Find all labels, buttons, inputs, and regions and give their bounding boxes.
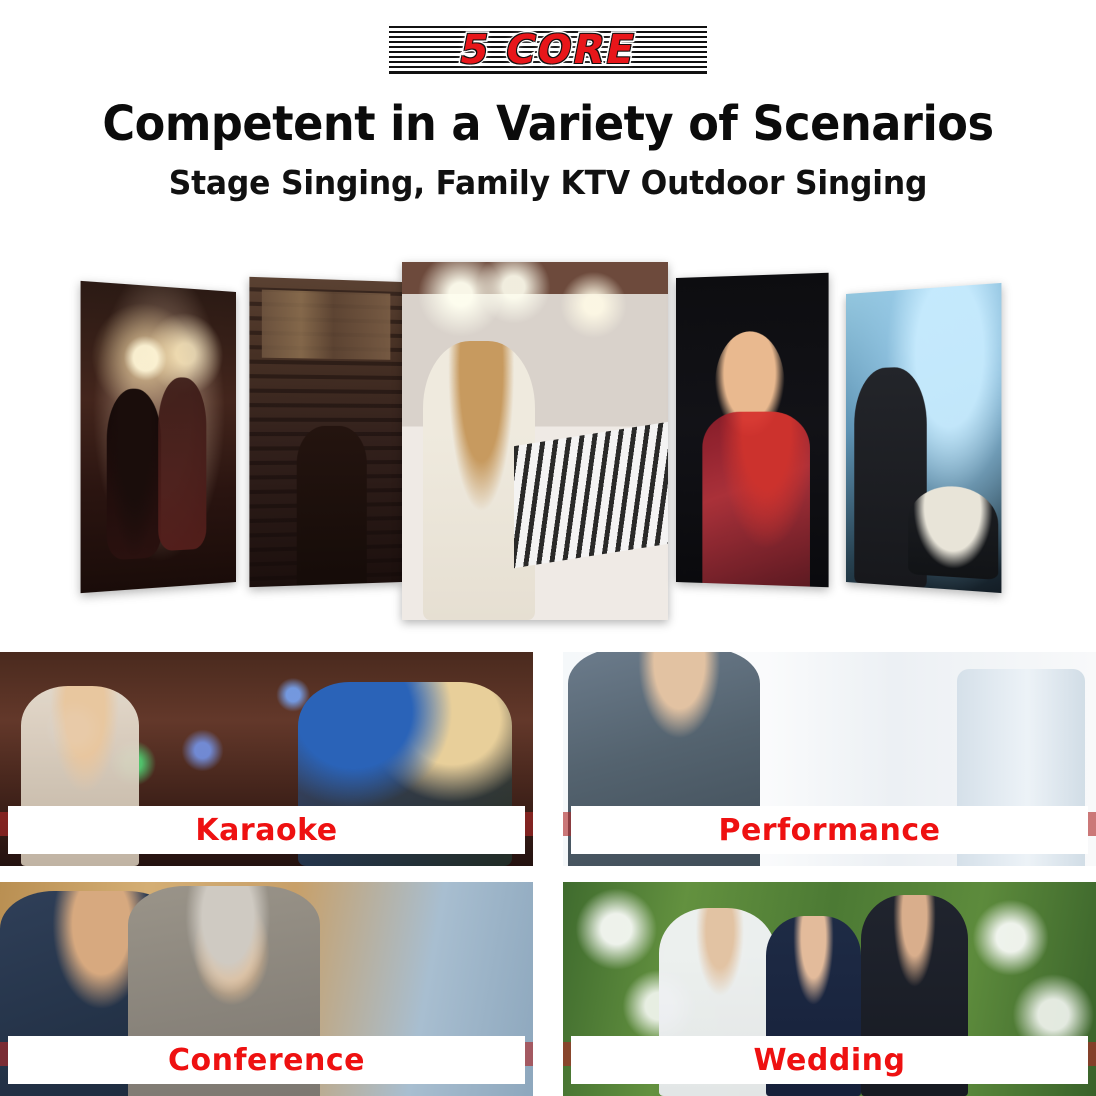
scenario-card-performance: Performance	[563, 652, 1096, 866]
scenario-label-conference: Conference	[168, 1043, 365, 1078]
scenario-grid: Karaoke Performance Conference Wedding	[0, 652, 1096, 1096]
brand-logo-text: 5 CORE	[385, 27, 712, 73]
product-infographic-page: 5 CORE Competent in a Variety of Scenari…	[0, 0, 1096, 1096]
ballet-dancers-photo	[81, 281, 236, 593]
fan-panel-child-at-piano	[402, 262, 668, 620]
scenario-card-wedding: Wedding	[563, 882, 1096, 1096]
child-at-piano-photo	[402, 262, 668, 620]
fan-photo-gallery	[0, 250, 1096, 640]
page-subtitle: Stage Singing, Family KTV Outdoor Singin…	[27, 163, 1068, 202]
wedding-label-band: Wedding	[571, 1036, 1088, 1084]
drummer-photo	[846, 283, 1001, 593]
page-title: Competent in a Variety of Scenarios	[38, 96, 1057, 152]
auditorium-performer-photo	[249, 277, 402, 587]
fan-panel-ballet-dancers	[81, 281, 236, 593]
scenario-label-performance: Performance	[718, 813, 940, 848]
scenario-label-karaoke: Karaoke	[195, 813, 337, 848]
brand-logo-5core: 5 CORE	[389, 26, 707, 74]
scenario-label-wedding: Wedding	[754, 1043, 906, 1078]
fan-panel-auditorium-performer	[249, 277, 402, 587]
scenario-card-conference: Conference	[0, 882, 533, 1096]
fan-panel-drummer	[846, 283, 1001, 593]
female-singer-photo	[676, 273, 829, 588]
performance-label-band: Performance	[571, 806, 1088, 854]
fan-panel-female-singer	[676, 273, 829, 588]
conference-label-band: Conference	[8, 1036, 525, 1084]
karaoke-label-band: Karaoke	[8, 806, 525, 854]
scenario-card-karaoke: Karaoke	[0, 652, 533, 866]
